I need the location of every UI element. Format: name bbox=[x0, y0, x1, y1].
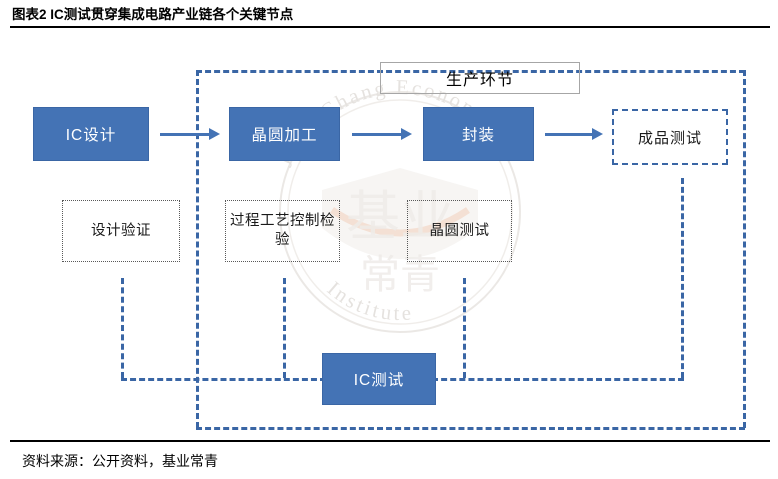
arrow-shaft bbox=[160, 133, 209, 136]
arrow-head bbox=[401, 128, 412, 140]
connector-wafer-test bbox=[463, 278, 466, 378]
arrow-head bbox=[592, 128, 603, 140]
node-ic-design[interactable]: IC设计 bbox=[33, 107, 149, 161]
production-stage-label: 生产环节 bbox=[446, 66, 514, 90]
production-stage-header: 生产环节 bbox=[380, 62, 580, 94]
node-wafer-test[interactable]: 晶圆测试 bbox=[407, 200, 512, 262]
svg-text:Institute: Institute bbox=[323, 276, 415, 325]
page-title: 图表2 IC测试贯穿集成电路产业链各个关键节点 bbox=[12, 3, 293, 23]
arrow-right-icon bbox=[352, 128, 412, 140]
node-ic-test-label: IC测试 bbox=[354, 368, 405, 390]
node-packaging[interactable]: 封装 bbox=[423, 107, 534, 161]
diagram-canvas: JiXueChang Economics Institute 基业 常青 生产环… bbox=[0, 28, 778, 438]
source-bar: 资料来源：公开资料，基业常青 bbox=[0, 445, 778, 477]
node-packaging-label: 封装 bbox=[462, 123, 495, 145]
node-final-product-test-label: 成品测试 bbox=[638, 127, 702, 148]
production-region-bottom-edge bbox=[196, 427, 745, 430]
connector-design-verification bbox=[121, 278, 124, 378]
node-process-control-inspection[interactable]: 过程工艺控制检验 bbox=[225, 200, 340, 262]
production-region-left-edge bbox=[196, 70, 199, 428]
connector-final-product-test bbox=[681, 178, 684, 378]
node-wafer-fabrication-label: 晶圆加工 bbox=[251, 123, 317, 145]
node-design-verification-label: 设计验证 bbox=[91, 222, 151, 241]
arrow-right-icon bbox=[160, 128, 220, 140]
source-divider bbox=[10, 440, 770, 442]
arrow-shaft bbox=[352, 133, 401, 136]
test-bus-left-segment bbox=[121, 378, 326, 381]
test-bus-right-segment bbox=[432, 378, 684, 381]
source-label: 资料来源：公开资料，基业常青 bbox=[22, 451, 218, 471]
exhibit-title-bar: 图表2 IC测试贯穿集成电路产业链各个关键节点 bbox=[0, 0, 778, 26]
node-ic-test[interactable]: IC测试 bbox=[322, 353, 436, 405]
arrow-head bbox=[209, 128, 220, 140]
node-final-product-test[interactable]: 成品测试 bbox=[612, 109, 728, 165]
arrow-right-icon bbox=[545, 128, 603, 140]
node-process-control-inspection-label: 过程工艺控制检验 bbox=[226, 212, 339, 249]
connector-process-control bbox=[283, 278, 286, 378]
production-region-right-edge bbox=[743, 70, 746, 428]
arrow-shaft bbox=[545, 133, 592, 136]
node-wafer-fabrication[interactable]: 晶圆加工 bbox=[229, 107, 340, 161]
node-ic-design-label: IC设计 bbox=[66, 123, 117, 145]
node-design-verification[interactable]: 设计验证 bbox=[62, 200, 180, 262]
node-wafer-test-label: 晶圆测试 bbox=[430, 222, 490, 241]
